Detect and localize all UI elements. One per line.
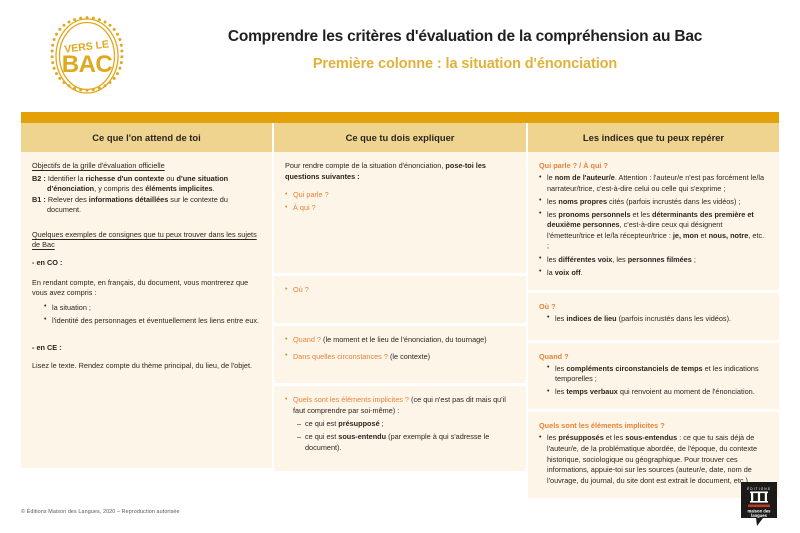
list-item: la situation ; xyxy=(44,303,261,314)
col2-row3-bullets: Quand ? (le moment et le lieu de l'énonc… xyxy=(285,335,515,362)
r2-p1: les xyxy=(555,314,566,323)
b5-p1: la xyxy=(547,268,555,277)
b3-p1: les xyxy=(547,210,558,219)
col1-b2-bold-3: éléments implicites xyxy=(145,184,212,193)
b2-b1: noms propres xyxy=(558,197,607,206)
vers-le-bac-badge-icon: VERS LE BAC xyxy=(48,12,126,100)
col2-row3-b2-plain: (le contexte) xyxy=(388,352,430,361)
col1-b2-text-1: Identifier la xyxy=(46,174,86,183)
page-subtitle: Première colonne : la situation d'énonci… xyxy=(140,56,790,73)
r3b-p2: qui renvoient au moment de l'énonciation… xyxy=(618,387,755,396)
b2-p2: cités (parfois incrustés dans les vidéos… xyxy=(607,197,740,206)
col1-ce-label: - en CE : xyxy=(32,343,261,354)
col1-spacer-3 xyxy=(32,271,261,278)
b3-p2: et les xyxy=(631,210,653,219)
column-header-2: Ce que tu dois expliquer xyxy=(274,123,526,152)
table-column-clues: Les indices que tu peux repérer Qui parl… xyxy=(528,123,779,498)
publisher-logo: ÉDITIONS maison des langues xyxy=(739,480,779,528)
col2-row3-b1-plain: (le moment et le lieu de l'énonciation, … xyxy=(321,335,487,344)
cell-col2-row2: Où ? xyxy=(274,276,526,323)
col1-heading-2: Quelques exemples de consignes que tu pe… xyxy=(32,230,261,251)
col1-b1-text-1: Relever des xyxy=(46,195,89,204)
b1-p1: le xyxy=(547,173,555,182)
table-top-bar xyxy=(21,112,779,123)
logo-line-2: BAC xyxy=(62,51,113,78)
col2-row4-sub2-plain1: ce qui est xyxy=(305,432,338,441)
b4-p2: , les xyxy=(612,255,627,264)
list-item: la voix off. xyxy=(539,268,768,279)
col1-spacer-1 xyxy=(32,216,261,230)
column-header-3: Les indices que tu peux repérer xyxy=(528,123,779,152)
r4-p2: et les xyxy=(604,433,626,442)
page-footer: © Éditions Maison des Langues, 2020 – Re… xyxy=(0,473,800,533)
title-block: Comprendre les critères d'évaluation de … xyxy=(140,28,790,73)
cell-col2-row4: Quels sont les éléments implicites ? (ce… xyxy=(274,386,526,471)
list-item: ce qui est présupposé ; xyxy=(297,419,515,430)
col2-row4-sub1-bold: présupposé xyxy=(338,419,379,428)
col2-row1-intro-plain: Pour rendre compte de la situation d'éno… xyxy=(285,161,445,170)
r4-b2: sous-entendus xyxy=(625,433,677,442)
b3-b3: je, mon xyxy=(673,231,699,240)
col2-row2-bullets: Où ? xyxy=(285,285,515,296)
table-body: Ce que l'on attend de toi Objectifs de l… xyxy=(21,123,779,498)
col2-row1-bullets: Qui parle ? À qui ? xyxy=(285,190,515,214)
list-item: Quand ? (le moment et le lieu de l'énonc… xyxy=(285,335,515,346)
list-item: le nom de l'auteur/e. Attention : l'aute… xyxy=(539,173,768,194)
criteria-table: Ce que l'on attend de toi Objectifs de l… xyxy=(21,112,779,498)
col1-spacer-4 xyxy=(32,329,261,343)
cell-col2-row1: Pour rendre compte de la situation d'éno… xyxy=(274,152,526,273)
b3-p4: et xyxy=(698,231,708,240)
col2-row4-sub-list: ce qui est présupposé ; ce qui est sous-… xyxy=(285,419,515,453)
list-item: les noms propres cités (parfois incrusté… xyxy=(539,197,768,208)
col2-row4-orange: Quels sont les éléments implicites ? xyxy=(293,395,409,404)
r2-b1: indices de lieu xyxy=(566,314,616,323)
copyright-text: © Éditions Maison des Langues, 2020 – Re… xyxy=(21,509,180,515)
list-item: l'identité des personnages et éventuelle… xyxy=(44,316,261,327)
b5-p2: . xyxy=(581,268,583,277)
col1-b2-label: B2 : xyxy=(32,174,46,183)
col1-spacer-2 xyxy=(32,251,261,258)
col1-b2-line: B2 : Identifier la richesse d'un context… xyxy=(32,174,261,195)
col1-b2-bold-1: richesse d'un contexte xyxy=(86,174,165,183)
col2-row3-b1-orange: Quand ? xyxy=(293,335,321,344)
col3-row4-title: Quels sont les éléments implicites ? xyxy=(539,421,768,430)
col1-b2-text-4: . xyxy=(213,184,215,193)
col1-b1-line: B1 : Relever des informations détaillées… xyxy=(32,195,261,216)
page-header: VERS LE BAC Comprendre les critères d'év… xyxy=(0,0,800,110)
col2-row1-intro: Pour rendre compte de la situation d'éno… xyxy=(285,161,515,182)
list-item: Qui parle ? xyxy=(285,190,515,201)
col2-row4-sub2-bold: sous-entendu xyxy=(338,432,386,441)
r4-b1: présupposés xyxy=(558,433,603,442)
col1-b1-bold-1: informations détaillées xyxy=(89,195,168,204)
list-item: Quels sont les éléments implicites ? (ce… xyxy=(285,395,515,416)
col3-row2-title: Où ? xyxy=(539,302,768,311)
list-item: les pronoms personnels et les déterminan… xyxy=(539,210,768,252)
col2-row4-bullets: Quels sont les éléments implicites ? (ce… xyxy=(285,395,515,416)
col1-co-label-text: - en CO : xyxy=(32,258,62,267)
list-item: les différentes voix, les personnes film… xyxy=(539,255,768,266)
r3a-p1: les xyxy=(555,364,566,373)
table-column-expectations: Ce que l'on attend de toi Objectifs de l… xyxy=(21,123,272,498)
r3b-b1: temps verbaux xyxy=(566,387,618,396)
b4-p1: les xyxy=(547,255,558,264)
col1-ce-text: Lisez le texte. Rendez compte du thème p… xyxy=(32,361,261,372)
column-header-1: Ce que l'on attend de toi xyxy=(21,123,272,152)
list-item: les temps verbaux qui renvoient au momen… xyxy=(547,387,768,398)
col3-row3-bullets: les compléments circonstanciels de temps… xyxy=(547,364,768,398)
vers-le-bac-logo: VERS LE BAC xyxy=(48,12,126,100)
r3a-b1: compléments circonstanciels de temps xyxy=(566,364,702,373)
list-item: Dans quelles circonstances ? (le context… xyxy=(285,352,515,363)
b4-p3: ; xyxy=(692,255,696,264)
cell-col2-row3: Quand ? (le moment et le lieu de l'énonc… xyxy=(274,326,526,383)
list-item: À qui ? xyxy=(285,203,515,214)
col1-heading-1: Objectifs de la grille d'évaluation offi… xyxy=(32,161,261,172)
page-title: Comprendre les critères d'évaluation de … xyxy=(140,28,790,47)
col2-row4-sub1-plain1: ce qui est xyxy=(305,419,338,428)
b3-b1: pronoms personnels xyxy=(558,210,630,219)
cell-col1: Objectifs de la grille d'évaluation offi… xyxy=(21,152,272,468)
col1-ce-label-text: - en CE : xyxy=(32,343,62,352)
col1-b1-label: B1 : xyxy=(32,195,46,204)
col2-row3-b2-orange: Dans quelles circonstances ? xyxy=(293,352,388,361)
col1-co-bullets: la situation ; l'identité des personnage… xyxy=(44,303,261,327)
list-item: Où ? xyxy=(285,285,515,296)
col1-co-intro: En rendant compte, en français, du docum… xyxy=(32,278,261,299)
col2-row4-sub1-plain2: ; xyxy=(380,419,384,428)
col1-spacer-5 xyxy=(32,354,261,361)
b4-b2: personnes filmées xyxy=(628,255,692,264)
col1-co-label: - en CO : xyxy=(32,258,261,269)
publisher-top-text: ÉDITIONS xyxy=(747,486,771,491)
col1-b2-text-3: , y compris des xyxy=(94,184,145,193)
cell-col3-row3: Quand ? les compléments circonstanciels … xyxy=(528,343,779,410)
table-column-explain: Ce que tu dois expliquer Pour rendre com… xyxy=(274,123,526,498)
cell-col3-row2: Où ? les indices de lieu (parfois incrus… xyxy=(528,293,779,340)
list-item: ce qui est sous-entendu (par exemple à q… xyxy=(297,432,515,453)
b1-b1: nom de l'auteur/e xyxy=(555,173,615,182)
col3-row1-bullets: le nom de l'auteur/e. Attention : l'aute… xyxy=(539,173,768,278)
col1-b2-text-2: ou xyxy=(164,174,176,183)
col3-row2-bullets: les indices de lieu (parfois incrustés d… xyxy=(547,314,768,325)
list-item: les indices de lieu (parfois incrustés d… xyxy=(547,314,768,325)
b2-p1: les xyxy=(547,197,558,206)
col3-row3-title: Quand ? xyxy=(539,352,768,361)
b4-b1: différentes voix xyxy=(558,255,612,264)
cell-col3-row1: Qui parle ? / À qui ? le nom de l'auteur… xyxy=(528,152,779,290)
list-item: les compléments circonstanciels de temps… xyxy=(547,364,768,385)
maison-des-langues-logo-icon: ÉDITIONS maison des langues xyxy=(739,480,779,528)
r4-p1: les xyxy=(547,433,558,442)
r3b-p1: les xyxy=(555,387,566,396)
publisher-name-line2: langues xyxy=(751,513,767,518)
b5-b1: voix off xyxy=(555,268,581,277)
r2-p2: (parfois incrustés dans les vidéos). xyxy=(617,314,731,323)
col3-row1-title: Qui parle ? / À qui ? xyxy=(539,161,768,170)
b3-b4: nous, notre xyxy=(709,231,749,240)
